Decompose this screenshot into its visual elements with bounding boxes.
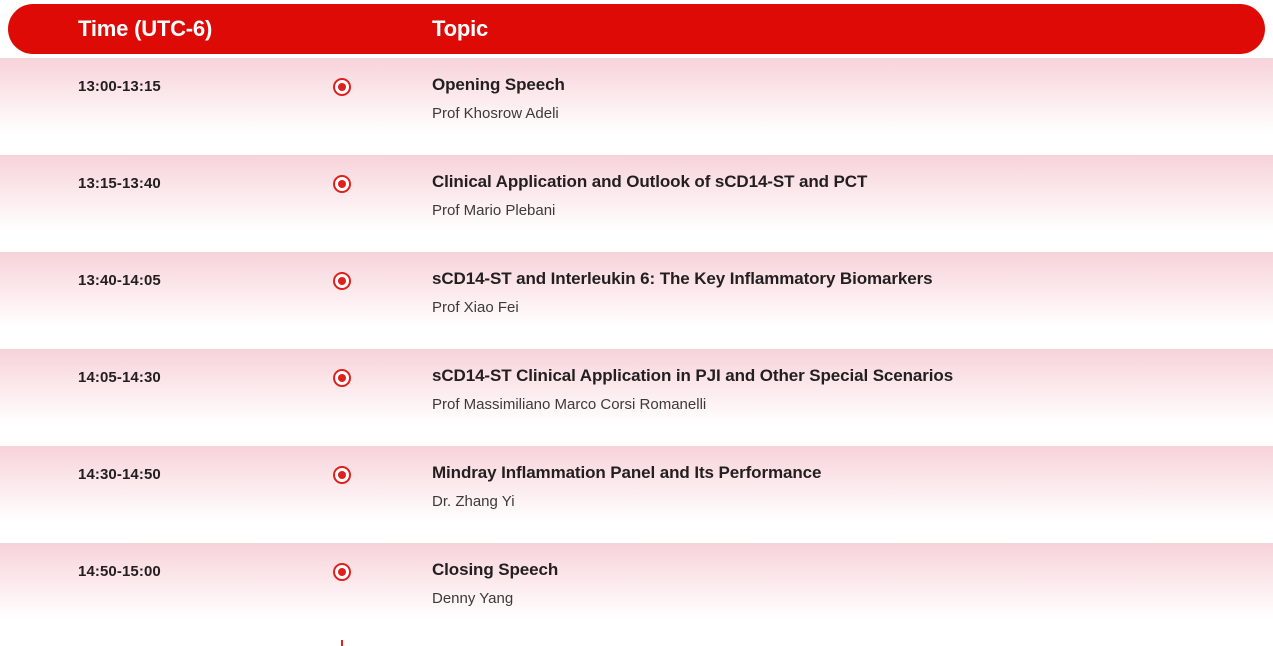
schedule-rows: 13:00-13:15 Opening Speech Prof Khosrow … [0, 58, 1273, 640]
agenda-schedule: Time (UTC-6) Topic 13:00-13:15 Opening S… [0, 0, 1273, 646]
table-row: 13:40-14:05 sCD14-ST and Interleukin 6: … [0, 252, 1273, 349]
session-title: sCD14-ST Clinical Application in PJI and… [432, 365, 1253, 387]
timeline-dot-icon [333, 272, 351, 290]
session-time: 14:30-14:50 [78, 466, 161, 483]
session-topic: sCD14-ST Clinical Application in PJI and… [432, 365, 1253, 415]
timeline-dot-icon [333, 78, 351, 96]
session-topic: Clinical Application and Outlook of sCD1… [432, 171, 1253, 221]
session-title: Mindray Inflammation Panel and Its Perfo… [432, 462, 1253, 484]
session-speaker: Prof Mario Plebani [432, 201, 1253, 221]
table-row: 14:50-15:00 Closing Speech Denny Yang [0, 543, 1273, 640]
session-speaker: Prof Khosrow Adeli [432, 104, 1253, 124]
session-time: 13:00-13:15 [78, 78, 161, 95]
session-time: 14:05-14:30 [78, 369, 161, 386]
timeline-dot-center [338, 374, 346, 382]
session-topic: Mindray Inflammation Panel and Its Perfo… [432, 462, 1253, 512]
timeline-dot-center [338, 277, 346, 285]
timeline-dot-icon [333, 175, 351, 193]
session-speaker: Prof Xiao Fei [432, 298, 1253, 318]
schedule-header: Time (UTC-6) Topic [8, 4, 1265, 54]
session-time: 14:50-15:00 [78, 563, 161, 580]
session-time: 13:15-13:40 [78, 175, 161, 192]
session-topic: Opening Speech Prof Khosrow Adeli [432, 74, 1253, 124]
timeline-dot-center [338, 471, 346, 479]
timeline-dot-center [338, 83, 346, 91]
session-title: sCD14-ST and Interleukin 6: The Key Infl… [432, 268, 1253, 290]
timeline-dot-icon [333, 369, 351, 387]
session-topic: sCD14-ST and Interleukin 6: The Key Infl… [432, 268, 1253, 318]
session-speaker: Denny Yang [432, 589, 1253, 609]
column-header-time: Time (UTC-6) [78, 16, 212, 42]
session-title: Opening Speech [432, 74, 1253, 96]
session-speaker: Dr. Zhang Yi [432, 492, 1253, 512]
session-topic: Closing Speech Denny Yang [432, 559, 1253, 609]
table-row: 14:30-14:50 Mindray Inflammation Panel a… [0, 446, 1273, 543]
column-header-topic: Topic [432, 16, 488, 42]
session-speaker: Prof Massimiliano Marco Corsi Romanelli [432, 395, 1253, 415]
table-row: 13:15-13:40 Clinical Application and Out… [0, 155, 1273, 252]
timeline-dot-icon [333, 466, 351, 484]
table-row: 13:00-13:15 Opening Speech Prof Khosrow … [0, 58, 1273, 155]
table-row: 14:05-14:30 sCD14-ST Clinical Applicatio… [0, 349, 1273, 446]
session-time: 13:40-14:05 [78, 272, 161, 289]
timeline-dot-center [338, 568, 346, 576]
timeline-dot-center [338, 180, 346, 188]
session-title: Clinical Application and Outlook of sCD1… [432, 171, 1253, 193]
timeline-dot-icon [333, 563, 351, 581]
session-title: Closing Speech [432, 559, 1253, 581]
